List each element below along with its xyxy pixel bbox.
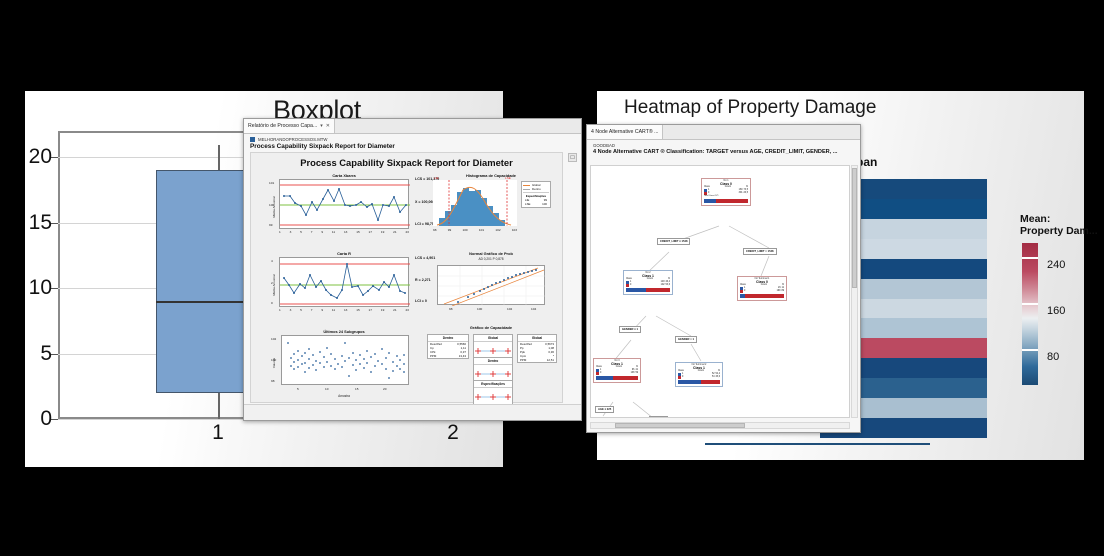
legend-tick-240: 240 — [1047, 259, 1065, 271]
capability-plot-especificacoes: Especificações — [473, 380, 513, 407]
capability-bar — [474, 346, 512, 355]
minitab-capability-window[interactable]: Relatório de Processo Capa... ▾ ✕ MELHOR… — [243, 118, 582, 421]
legend-item-dentro: Dentro — [523, 187, 549, 191]
y-axis-label-20: 20 — [29, 145, 52, 169]
legend-title-line2: Property Dam... — [1020, 225, 1098, 237]
chart-carta-r: Carta R Média Amostral 4 2 0 — [269, 251, 419, 313]
report-title: Process Capability Sixpack Report for Di… — [251, 153, 562, 168]
whisker-upper — [218, 145, 220, 171]
chart-carta-xbarra: Carta Xbarra Média Amostral 101 100 99 — [269, 173, 419, 235]
legend-divider — [1022, 349, 1038, 351]
cart-node-root[interactable]: Nó 1 Class 0 ClassCount% 118073,5 039126… — [701, 178, 751, 206]
spec-row-lse: LSE 100 — [523, 202, 549, 206]
legend-swatch — [523, 189, 530, 190]
xbar-series — [280, 180, 410, 230]
scrollbar-thumb[interactable] — [615, 423, 745, 428]
histogram-legend: Global Dentro Especificações LIE 99 LSE … — [521, 181, 551, 208]
y-tick: 0 — [271, 301, 273, 305]
y-tick: 98 — [271, 379, 274, 383]
chart-title: Carta R — [269, 251, 419, 256]
plot-area — [437, 265, 545, 305]
worksheet-icon — [250, 137, 255, 142]
r-series — [280, 258, 410, 308]
plot-area — [433, 180, 517, 226]
y-axis-label-5: 5 — [40, 342, 52, 366]
prob-series — [438, 266, 546, 306]
worksheet-name: MELHORANDOPROCESSOS.MTW — [258, 137, 327, 142]
legend-tick-160: 160 — [1047, 305, 1065, 317]
capability-bar — [474, 369, 512, 378]
x-axis-label-2: 2 — [447, 421, 459, 445]
cart-split-label: GENDER ≤ 1 — [619, 326, 641, 333]
legend-tick-80: 80 — [1047, 351, 1059, 363]
chart-subtitle: AD 0,201 P 0,878 — [431, 257, 551, 261]
y-tick: 4 — [271, 259, 273, 263]
stat-box-head: Dentro — [428, 335, 468, 342]
cart-node-3[interactable]: Nó 3 Class 1 ClassCount% 19641 013859 — [593, 358, 641, 383]
chart-title: Gráfico de Capacidade — [427, 325, 555, 330]
chart-title: Normal Gráfico de Prob — [431, 251, 551, 256]
tab-strip[interactable]: Relatório de Processo Capa... ▾ ✕ — [244, 119, 581, 134]
vertical-scrollbar[interactable] — [851, 165, 858, 418]
y-tick: 2 — [271, 281, 273, 285]
report-canvas: Process Capability Sixpack Report for Di… — [250, 152, 563, 403]
axis-tick — [51, 419, 58, 420]
y-axis-label-15: 15 — [29, 211, 52, 235]
node-class-bar — [626, 288, 670, 292]
x-tick-row: 9899100101102103 — [433, 228, 517, 232]
page-title: Heatmap of Property Damage — [624, 97, 876, 119]
cart-split-label: AGE > 225 — [649, 416, 668, 418]
x-tick: 10 — [325, 387, 328, 391]
cart-node-terminal-1[interactable]: Nó Terminal 1 Class 0 ClassCount% 12611 … — [737, 276, 787, 301]
dataset-row: GOODBAD — [587, 140, 860, 148]
y-tick: 101 — [269, 181, 274, 185]
x-axis-label-1: 1 — [212, 421, 224, 445]
chart-title: Últimos 24 Subgrupos — [269, 329, 419, 334]
stat-box-dentro: Dentro DesvPad0,5566 Cp1,11 CPk0,37 PPM1… — [427, 334, 469, 359]
tab-label: 4 Node Alternative CART® ... — [591, 129, 658, 135]
cart-node-terminal-2[interactable]: Nó Terminal 2 Class 1 ClassCount% 15254,… — [675, 362, 723, 387]
cart-split-label: AGE ≤ 225 — [595, 406, 614, 413]
legend-divider — [1022, 303, 1038, 305]
section-label-specs: Especificações — [474, 381, 512, 388]
plot-area — [281, 335, 409, 385]
cart-node-2[interactable]: Nó 2 Class 1 ClassCount% 114846,4 019253… — [623, 270, 673, 295]
chart-histograma-capacidade: Histograma de Capacidade LIE — [431, 173, 551, 235]
tab-cart-report[interactable]: 4 Node Alternative CART® ... — [587, 125, 663, 139]
y-tick: 102 — [271, 337, 276, 341]
dataset-name: GOODBAD — [593, 143, 615, 148]
panel-toggle-icon[interactable]: ☐ — [568, 153, 577, 162]
annotation-lci: LCI = 0 — [415, 299, 427, 303]
stat-key: PPM — [430, 354, 436, 358]
stat-val: 13,43 — [459, 354, 466, 358]
tab-capability-report[interactable]: Relatório de Processo Capa... ▾ ✕ — [244, 119, 335, 133]
cart-split-label: CREDIT_LIMIT > 1548 — [743, 248, 777, 255]
legend-divider — [1022, 257, 1038, 259]
tab-label: Relatório de Processo Capa... — [248, 123, 317, 129]
chevron-down-icon[interactable]: ▾ — [320, 123, 323, 129]
axis-tick — [51, 288, 58, 289]
worksheet-row: MELHORANDOPROCESSOS.MTW — [244, 134, 581, 142]
y-axis-label-10: 10 — [29, 276, 52, 300]
histogram-series — [433, 180, 517, 226]
y-axis-title: Média Amostral — [272, 268, 276, 302]
x-tick: 15 — [355, 387, 358, 391]
stat-key: PPM — [520, 358, 526, 362]
y-axis-title: Valores — [272, 348, 276, 378]
node-class-bar — [678, 380, 720, 384]
stat-box-head: Global — [518, 335, 556, 342]
chart-normal-prob: Normal Gráfico de Prob AD 0,201 P 0,878 — [431, 251, 551, 317]
heatmap-baseline — [705, 443, 930, 445]
subgroup-scatter — [282, 336, 410, 386]
stat-box-global: Global DesvPad0,5673 Pp1,08 Ppk0,36 Cpm*… — [517, 334, 557, 363]
plot-area — [279, 257, 409, 307]
chart-title: Carta Xbarra — [269, 173, 419, 178]
chart-ultimos-subgrupos: Últimos 24 Subgrupos Valores 102 100 98 — [269, 329, 419, 401]
axis-tick — [51, 157, 58, 158]
node-class-bar — [596, 376, 638, 380]
plot-area — [279, 179, 409, 229]
x-tick: 5 — [297, 387, 299, 391]
annotation-mean: R = 2,271 — [415, 278, 431, 282]
y-tick: 100 — [271, 358, 276, 362]
stat-val: 12,51 — [547, 358, 554, 362]
x-tick-row: 1357911 131517192123 — [279, 230, 409, 234]
x-axis-title: Amostra — [269, 394, 419, 398]
axis-tick — [51, 354, 58, 355]
report-heading: Process Capability Sixpack Report for Di… — [244, 142, 581, 152]
whisker-lower — [218, 393, 220, 419]
spec-val: 100 — [542, 202, 547, 206]
axis-tick — [51, 223, 58, 224]
heatmap-legend: Mean: Property Dam... — [1020, 213, 1098, 237]
spec-key: LSE — [525, 202, 530, 206]
node-class-bar — [740, 294, 784, 298]
y-axis-label-0: 0 — [40, 407, 52, 431]
node-class-bar — [704, 199, 748, 203]
spec-label-lie: LIE — [434, 176, 439, 180]
tab-strip[interactable]: 4 Node Alternative CART® ... — [587, 125, 860, 140]
cart-split-label: CREDIT_LIMIT ≤ 1548 — [657, 238, 690, 245]
minitab-cart-window[interactable]: 4 Node Alternative CART® ... GOODBAD 4 N… — [586, 124, 861, 433]
report-heading: 4 Node Alternative CART ® Classification… — [587, 148, 860, 157]
horizontal-scrollbar[interactable] — [590, 422, 850, 429]
section-label-dentro: Dentro — [474, 358, 512, 365]
cart-tree-canvas[interactable]: Nó 1 Class 0 ClassCount% 118073,5 039126… — [590, 165, 850, 418]
x-tick: 20 — [383, 387, 386, 391]
section-label-global: Global — [474, 335, 512, 342]
scrollbar-thumb[interactable] — [852, 168, 857, 288]
legend-colorbar — [1022, 243, 1038, 385]
chart-title: Histograma de Capacidade — [431, 173, 551, 178]
close-icon[interactable]: ✕ — [326, 123, 330, 129]
y-axis-title: Média Amostral — [272, 190, 276, 224]
chart-grafico-capacidade: Gráfico de Capacidade Dentro DesvPad0,55… — [427, 325, 555, 401]
legend-title-line1: Mean: — [1020, 213, 1098, 225]
capability-bar — [474, 392, 512, 401]
legend-label: Dentro — [532, 187, 541, 191]
cart-split-label: GENDER > 1 — [675, 336, 697, 343]
spec-label-lse: LSE — [505, 176, 511, 180]
x-tick-row: 1357911 131517192123 — [279, 308, 409, 312]
y-tick: 99 — [269, 223, 272, 227]
y-tick: 100 — [269, 203, 274, 207]
legend-swatch — [523, 185, 530, 186]
status-bar — [244, 404, 581, 420]
